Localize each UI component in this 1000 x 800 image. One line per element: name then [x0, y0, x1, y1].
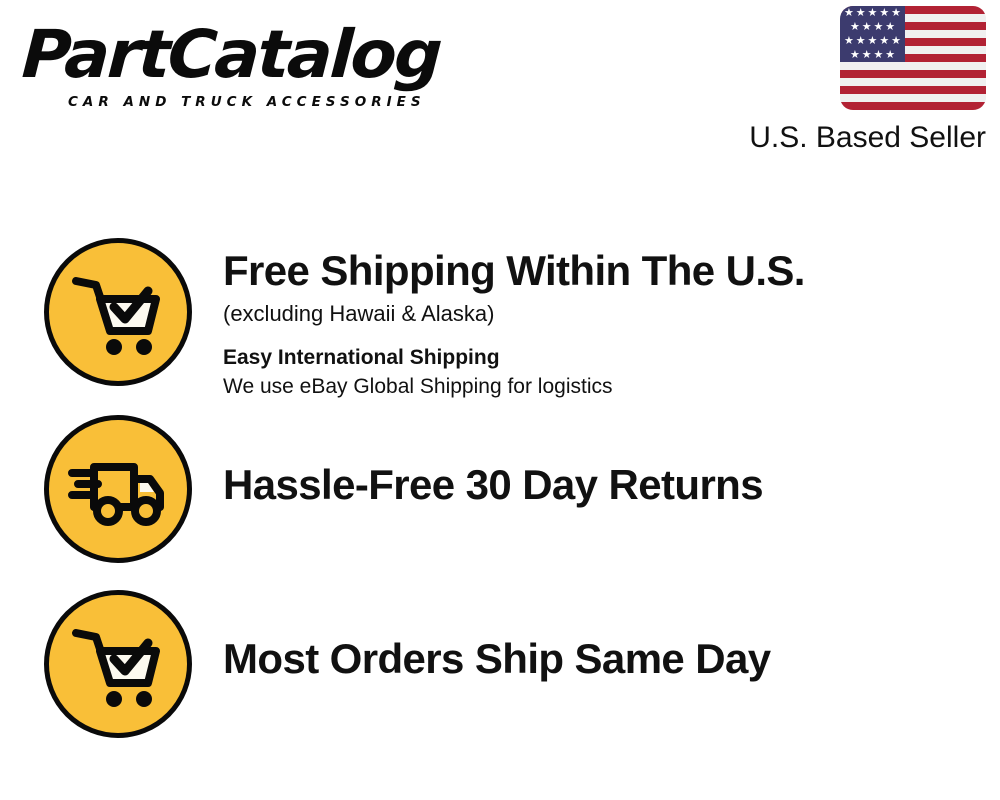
us-based-seller-badge: ★★★★★ ★★★★ ★★★★★ ★★★★ U.S. Based Seller — [716, 6, 986, 155]
feature-text: Most Orders Ship Same Day — [223, 590, 1000, 684]
shopping-cart-check-icon — [44, 238, 192, 386]
feature-row: Free Shipping Within The U.S. (excluding… — [0, 238, 1000, 401]
feature-title: Most Orders Ship Same Day — [223, 634, 1000, 684]
brand-tagline: CAR AND TRUCK ACCESSORIES — [68, 94, 426, 110]
feature-subheading: Easy International Shipping — [223, 344, 1000, 372]
feature-note: We use eBay Global Shipping for logistic… — [223, 373, 1000, 401]
brand-wordmark: PartCatalog — [20, 22, 503, 88]
feature-text: Free Shipping Within The U.S. (excluding… — [223, 238, 1000, 401]
feature-subtitle: (excluding Hawaii & Alaska) — [223, 299, 1000, 329]
flag-canton: ★★★★★ ★★★★ ★★★★★ ★★★★ — [840, 6, 905, 62]
us-flag-icon: ★★★★★ ★★★★ ★★★★★ ★★★★ — [840, 6, 986, 110]
page-header: PartCatalog CAR AND TRUCK ACCESSORIES ★★… — [0, 0, 1000, 170]
delivery-truck-icon — [44, 415, 192, 563]
seller-badge-label: U.S. Based Seller — [716, 121, 986, 155]
feature-text: Hassle-Free 30 Day Returns — [223, 415, 1000, 510]
brand-logo[interactable]: PartCatalog CAR AND TRUCK ACCESSORIES — [24, 22, 494, 117]
feature-row: Hassle-Free 30 Day Returns — [0, 415, 1000, 563]
feature-row: Most Orders Ship Same Day — [0, 590, 1000, 738]
feature-title: Free Shipping Within The U.S. — [223, 246, 1000, 296]
feature-title: Hassle-Free 30 Day Returns — [223, 460, 1000, 510]
shopping-cart-check-icon — [44, 590, 192, 738]
